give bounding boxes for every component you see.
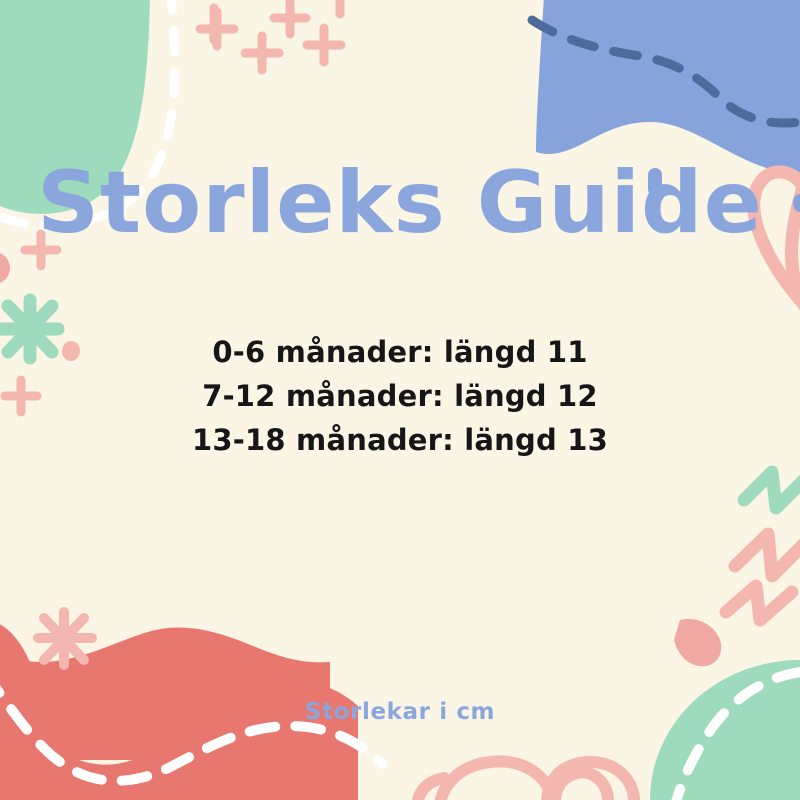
poster-footer-note: Storlekar i cm bbox=[0, 699, 800, 725]
size-list: 0-6 månader: längd 11 7-12 månader: läng… bbox=[0, 330, 800, 462]
page-title: Storleks Guide bbox=[0, 158, 800, 248]
list-item: 13-18 månader: längd 13 bbox=[0, 418, 800, 462]
list-item: 0-6 månader: längd 11 bbox=[0, 330, 800, 374]
list-item: 7-12 månader: längd 12 bbox=[0, 374, 800, 418]
size-guide-poster: Storleks Guide 0-6 månader: längd 11 7-1… bbox=[0, 0, 800, 800]
poster-content: Storleks Guide 0-6 månader: längd 11 7-1… bbox=[0, 0, 800, 800]
